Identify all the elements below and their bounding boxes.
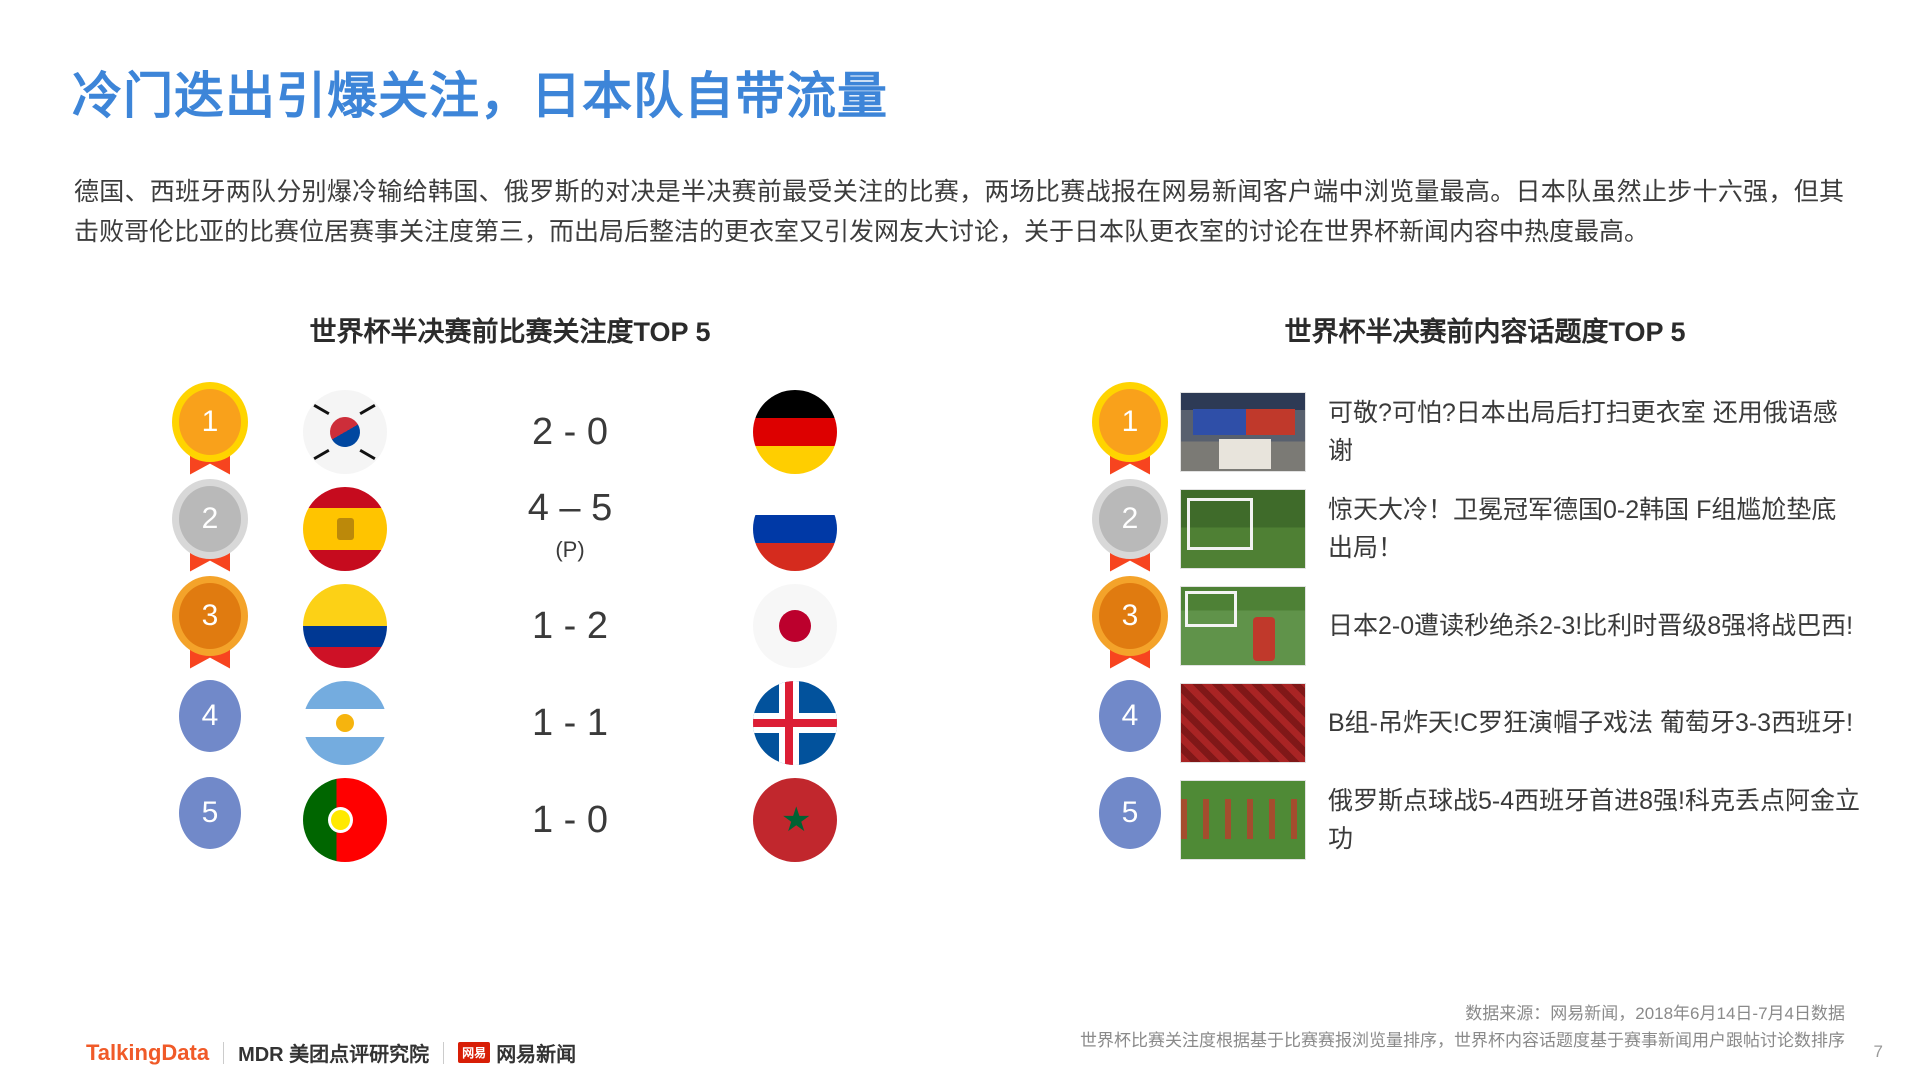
away-team-slot (720, 681, 870, 765)
slide: 冷门迭出引爆关注，日本队自带流量 德国、西班牙两队分别爆冷输给韩国、俄罗斯的对决… (0, 0, 1921, 1080)
topic-thumbnail (1180, 683, 1306, 763)
right-column-heading: 世界杯半决赛前内容话题度TOP 5 (1110, 310, 1860, 349)
rank-slot: 2 (1080, 486, 1180, 572)
match-row: 12 - 0 (150, 383, 870, 480)
rank-medal-2: 2 (179, 486, 241, 572)
home-team-slot (270, 487, 420, 571)
match-list: 12 - 024 – 5(P)31 - 241 - 151 - 0★ (150, 383, 870, 868)
netease-logo: 网易 网易新闻 (458, 1038, 576, 1067)
away-team-slot (720, 584, 870, 668)
rank-number: 2 (1099, 486, 1161, 552)
penalty-note: (P) (420, 530, 720, 570)
rank-slot: 1 (150, 389, 270, 475)
home-team-slot (270, 390, 420, 474)
footer-logos: TalkingData MDR 美团点评研究院 网易 网易新闻 (86, 1038, 576, 1067)
rank-number: 4 (1099, 680, 1161, 752)
rank-number: 1 (1099, 389, 1161, 455)
topic-list: 1可敬?可怕?日本出局后打扫更衣室 还用俄语感谢2惊天大冷！卫冕冠军德国0-2韩… (1080, 383, 1860, 868)
flag-俄罗斯 (753, 487, 837, 571)
topic-rank-medal-5: 5 (1099, 777, 1161, 863)
flag-冰岛 (753, 681, 837, 765)
topic-thumbnail (1180, 392, 1306, 472)
flag-摩洛哥: ★ (753, 778, 837, 862)
match-score: 4 – 5(P) (420, 488, 720, 570)
netease-badge-icon: 网易 (458, 1042, 490, 1063)
rank-number: 3 (1099, 583, 1161, 649)
page-number: 7 (1874, 1042, 1883, 1062)
match-row: 51 - 0★ (150, 771, 870, 868)
rank-slot: 4 (150, 680, 270, 766)
lede-paragraph: 德国、西班牙两队分别爆冷输给韩国、俄罗斯的对决是半决赛前最受关注的比赛，两场比赛… (74, 172, 1844, 252)
source-line-2: 世界杯比赛关注度根据基于比赛赛报浏览量排序，世界杯内容话题度基于赛事新闻用户跟帖… (1080, 1027, 1845, 1054)
topic-rank-medal-4: 4 (1099, 680, 1161, 766)
rank-slot: 2 (150, 486, 270, 572)
away-team-slot: ★ (720, 778, 870, 862)
source-line-1: 数据来源：网易新闻，2018年6月14日-7月4日数据 (1080, 1000, 1845, 1027)
match-row: 24 – 5(P) (150, 480, 870, 577)
topic-rank-medal-2: 2 (1099, 486, 1161, 572)
logo-divider (223, 1042, 224, 1064)
rank-number: 5 (179, 777, 241, 849)
topic-title: 惊天大冷！卫冕冠军德国0-2韩国 F组尴尬垫底出局！ (1328, 491, 1860, 567)
match-score: 1 - 0 (420, 800, 720, 840)
topic-rank-medal-3: 3 (1099, 583, 1161, 669)
rank-number: 3 (179, 583, 241, 649)
flag-葡萄牙 (303, 778, 387, 862)
flag-西班牙 (303, 487, 387, 571)
flag-哥伦比亚 (303, 584, 387, 668)
topic-thumbnail (1180, 780, 1306, 860)
netease-label: 网易新闻 (496, 1038, 576, 1067)
topic-row[interactable]: 5俄罗斯点球战5-4西班牙首进8强!科克丢点阿金立功 (1080, 771, 1860, 868)
rank-slot: 5 (150, 777, 270, 863)
source-note: 数据来源：网易新闻，2018年6月14日-7月4日数据 世界杯比赛关注度根据基于… (1080, 1000, 1845, 1054)
rank-slot: 5 (1080, 777, 1180, 863)
home-team-slot (270, 584, 420, 668)
rank-number: 1 (179, 389, 241, 455)
rank-medal-3: 3 (179, 583, 241, 669)
left-column-heading: 世界杯半决赛前比赛关注度TOP 5 (150, 310, 870, 349)
topic-title: 日本2-0遭读秒绝杀2-3!比利时晋级8强将战巴西! (1328, 607, 1860, 645)
match-score: 2 - 0 (420, 412, 720, 452)
topic-thumbnail (1180, 586, 1306, 666)
rank-medal-5: 5 (179, 777, 241, 863)
flag-阿根廷 (303, 681, 387, 765)
match-row: 31 - 2 (150, 577, 870, 674)
rank-slot: 1 (1080, 389, 1180, 475)
topic-title: 可敬?可怕?日本出局后打扫更衣室 还用俄语感谢 (1328, 394, 1860, 470)
topic-title: 俄罗斯点球战5-4西班牙首进8强!科克丢点阿金立功 (1328, 782, 1860, 858)
rank-medal-1: 1 (179, 389, 241, 475)
rank-medal-4: 4 (179, 680, 241, 766)
away-team-slot (720, 390, 870, 474)
logo-divider-2 (443, 1042, 444, 1064)
rank-number: 4 (179, 680, 241, 752)
topic-row[interactable]: 3日本2-0遭读秒绝杀2-3!比利时晋级8强将战巴西! (1080, 577, 1860, 674)
flag-韩国 (303, 390, 387, 474)
mdr-logo: MDR 美团点评研究院 (238, 1038, 429, 1067)
rank-slot: 4 (1080, 680, 1180, 766)
topic-row[interactable]: 4B组-吊炸天!C罗狂演帽子戏法 葡萄牙3-3西班牙! (1080, 674, 1860, 771)
home-team-slot (270, 778, 420, 862)
away-team-slot (720, 487, 870, 571)
topic-title: B组-吊炸天!C罗狂演帽子戏法 葡萄牙3-3西班牙! (1328, 704, 1860, 742)
match-attention-column: 世界杯半决赛前比赛关注度TOP 5 12 - 024 – 5(P)31 - 24… (150, 310, 870, 868)
flag-日本 (753, 584, 837, 668)
talkingdata-logo: TalkingData (86, 1040, 209, 1066)
home-team-slot (270, 681, 420, 765)
rank-number: 5 (1099, 777, 1161, 849)
rank-slot: 3 (1080, 583, 1180, 669)
match-score: 1 - 2 (420, 606, 720, 646)
match-score: 1 - 1 (420, 703, 720, 743)
topic-thumbnail (1180, 489, 1306, 569)
topic-attention-column: 世界杯半决赛前内容话题度TOP 5 1可敬?可怕?日本出局后打扫更衣室 还用俄语… (1080, 310, 1860, 868)
topic-row[interactable]: 1可敬?可怕?日本出局后打扫更衣室 还用俄语感谢 (1080, 383, 1860, 480)
topic-rank-medal-1: 1 (1099, 389, 1161, 475)
page-title: 冷门迭出引爆关注，日本队自带流量 (72, 56, 888, 128)
match-row: 41 - 1 (150, 674, 870, 771)
flag-德国 (753, 390, 837, 474)
topic-row[interactable]: 2惊天大冷！卫冕冠军德国0-2韩国 F组尴尬垫底出局！ (1080, 480, 1860, 577)
rank-number: 2 (179, 486, 241, 552)
rank-slot: 3 (150, 583, 270, 669)
